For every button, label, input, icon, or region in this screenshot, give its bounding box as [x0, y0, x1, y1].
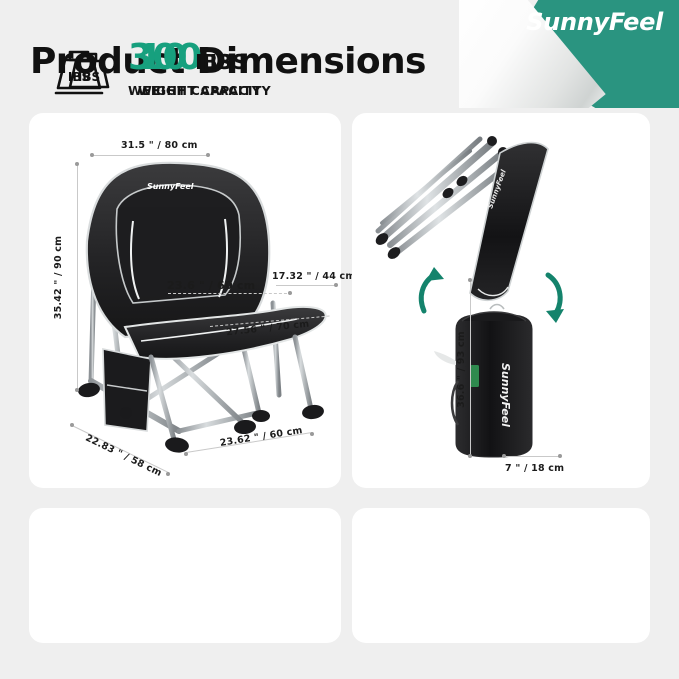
- dim-dot: [206, 153, 210, 157]
- dim-dot: [558, 454, 562, 458]
- weight-value: 10: [138, 40, 187, 76]
- carry-bag-illustration: SunnyFeel SunnyFeel: [352, 113, 650, 488]
- dim-seat-depth-right: 17.32 " / 44 cm: [272, 271, 355, 282]
- arrow-head-down: [546, 309, 564, 323]
- dim-dot: [468, 454, 472, 458]
- dim-dot: [468, 278, 472, 282]
- brand-logo: SunnyFeel: [526, 8, 663, 36]
- dim-dot: [288, 291, 292, 295]
- weight-card-content: IBS 10 IBS WEIGHT CAPACITY: [58, 38, 271, 100]
- dim-dot: [334, 283, 338, 287]
- infographic-page: SunnyFeel Product Dimensions: [0, 0, 679, 679]
- arrow-head-up: [426, 267, 444, 281]
- weight-icon-label: IBS: [78, 70, 100, 84]
- dim-line-bag-width: [504, 456, 560, 457]
- dim-line-seat-depth: [276, 285, 336, 286]
- weight-unit: IBS: [195, 52, 232, 72]
- dim-dot: [166, 472, 170, 476]
- weight-icon: IBS: [58, 38, 120, 100]
- weight-capacity-card-10: [352, 508, 650, 643]
- dim-bag-height: 36.6 " / 93 cm: [456, 331, 467, 408]
- dim-height-left: 35.42 " / 90 cm: [53, 236, 64, 319]
- dim-seat-width: 23.6 " / 60 cm: [167, 279, 255, 292]
- chair-logo-text: SunnyFeel: [147, 182, 194, 191]
- dim-dot: [75, 388, 79, 392]
- dim-line-height-left: [77, 164, 78, 390]
- dim-dot: [90, 153, 94, 157]
- dim-width-top: 31.5 " / 80 cm: [121, 140, 198, 151]
- dim-line-bag-height: [470, 280, 471, 456]
- bag-logo-text: SunnyFeel: [499, 363, 512, 427]
- bag-strap-loop: [434, 351, 456, 365]
- dim-dot: [502, 454, 506, 458]
- dim-dot: [184, 452, 188, 456]
- dim-bag-width: 7 " / 18 cm: [505, 463, 564, 474]
- dim-dot: [310, 432, 314, 436]
- dim-dot: [75, 162, 79, 166]
- dim-dot: [70, 423, 74, 427]
- weight-caption: WEIGHT CAPACITY: [138, 83, 271, 98]
- dim-line-width-top: [92, 155, 208, 156]
- bag-green-tag: [470, 365, 479, 387]
- weight-capacity-card-300: [29, 508, 341, 643]
- standing-carry-bag: [456, 315, 532, 457]
